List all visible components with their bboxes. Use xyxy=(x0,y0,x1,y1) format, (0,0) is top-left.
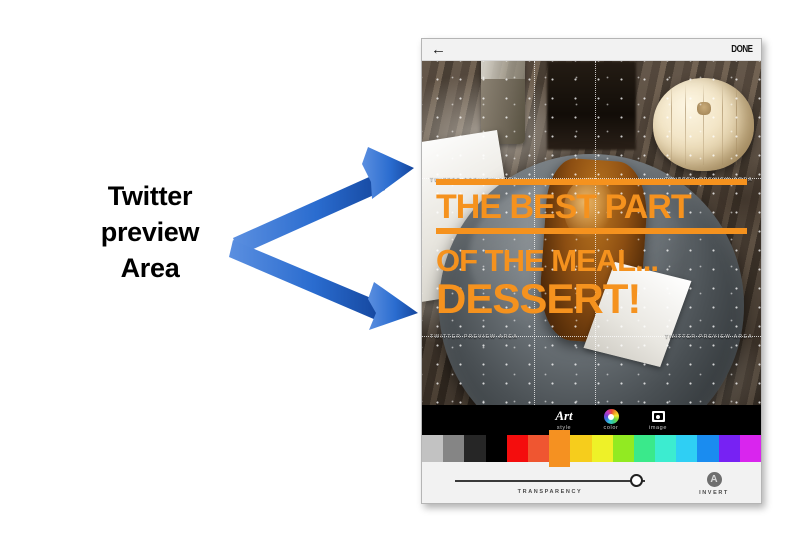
color-swatch-gray[interactable] xyxy=(443,435,464,462)
tool-strip: Art style color image xyxy=(422,405,761,435)
overlay-text-line-2: OF THE MEAL... xyxy=(436,245,747,276)
text-style-icon: Art xyxy=(541,407,587,424)
color-swatch-black[interactable] xyxy=(486,435,507,462)
color-swatch-violet[interactable] xyxy=(719,435,740,462)
arrow-upper xyxy=(233,147,414,255)
color-swatch-yellow-green[interactable] xyxy=(592,435,613,462)
color-swatch-yellow[interactable] xyxy=(570,435,591,462)
color-wheel-icon xyxy=(588,407,634,424)
overlay-text-line-1: THE BEST PART xyxy=(436,190,747,224)
annotation-label: Twitter preview Area xyxy=(60,178,240,286)
overlay-rule-bottom xyxy=(436,228,747,234)
transparency-slider-track[interactable] xyxy=(455,480,645,482)
image-picker-icon xyxy=(635,407,681,424)
overlay-text-line-3: DESSERT! xyxy=(436,278,747,320)
transparency-label: TRANSPARENCY xyxy=(455,489,645,495)
annotation-line-3: Area xyxy=(60,250,240,286)
color-swatch-red[interactable] xyxy=(507,435,528,462)
color-swatch-dark-gray[interactable] xyxy=(464,435,485,462)
invert-label: INVERT xyxy=(694,490,734,496)
tool-button-image[interactable]: image xyxy=(635,407,681,431)
twitter-preview-watermark: TWITTER PREVIEW AREA xyxy=(665,334,753,340)
back-arrow-icon[interactable]: ← xyxy=(431,42,446,58)
app-topbar: ← DONE xyxy=(422,39,761,61)
transparency-slider-handle[interactable] xyxy=(630,474,643,487)
invert-circle-icon: A xyxy=(707,472,722,487)
annotation-line-2: preview xyxy=(60,214,240,250)
arrow-lower xyxy=(229,240,418,330)
app-window: ← DONE xyxy=(421,38,762,504)
color-swatch-red-orange[interactable] xyxy=(528,435,549,462)
color-swatch-lime[interactable] xyxy=(613,435,634,462)
image-canvas[interactable]: TWITTER PREVIEW AREA TWITTER PREVIEW ARE… xyxy=(422,61,761,405)
color-swatch-magenta[interactable] xyxy=(740,435,761,462)
tool-label-color: color xyxy=(588,425,634,431)
tool-label-image: image xyxy=(635,425,681,431)
color-swatch-turquoise[interactable] xyxy=(655,435,676,462)
overlay-rule-top xyxy=(436,179,747,185)
overlay-text-block[interactable]: THE BEST PART OF THE MEAL... DESSERT! xyxy=(422,179,761,320)
bottom-controls: TRANSPARENCY A INVERT xyxy=(422,462,761,504)
color-swatch-green[interactable] xyxy=(634,435,655,462)
color-swatch-blue[interactable] xyxy=(697,435,718,462)
invert-button[interactable]: A INVERT xyxy=(694,472,734,496)
annotation-line-1: Twitter xyxy=(60,178,240,214)
color-swatch-cyan[interactable] xyxy=(676,435,697,462)
color-swatch-row[interactable] xyxy=(422,435,761,462)
done-button[interactable]: DONE xyxy=(731,44,752,56)
tool-button-style[interactable]: Art style xyxy=(541,407,587,431)
color-swatch-light-gray[interactable] xyxy=(422,435,443,462)
color-swatch-orange[interactable] xyxy=(549,430,570,467)
twitter-preview-watermark: TWITTER PREVIEW AREA xyxy=(430,334,518,340)
tool-button-color[interactable]: color xyxy=(588,407,634,431)
